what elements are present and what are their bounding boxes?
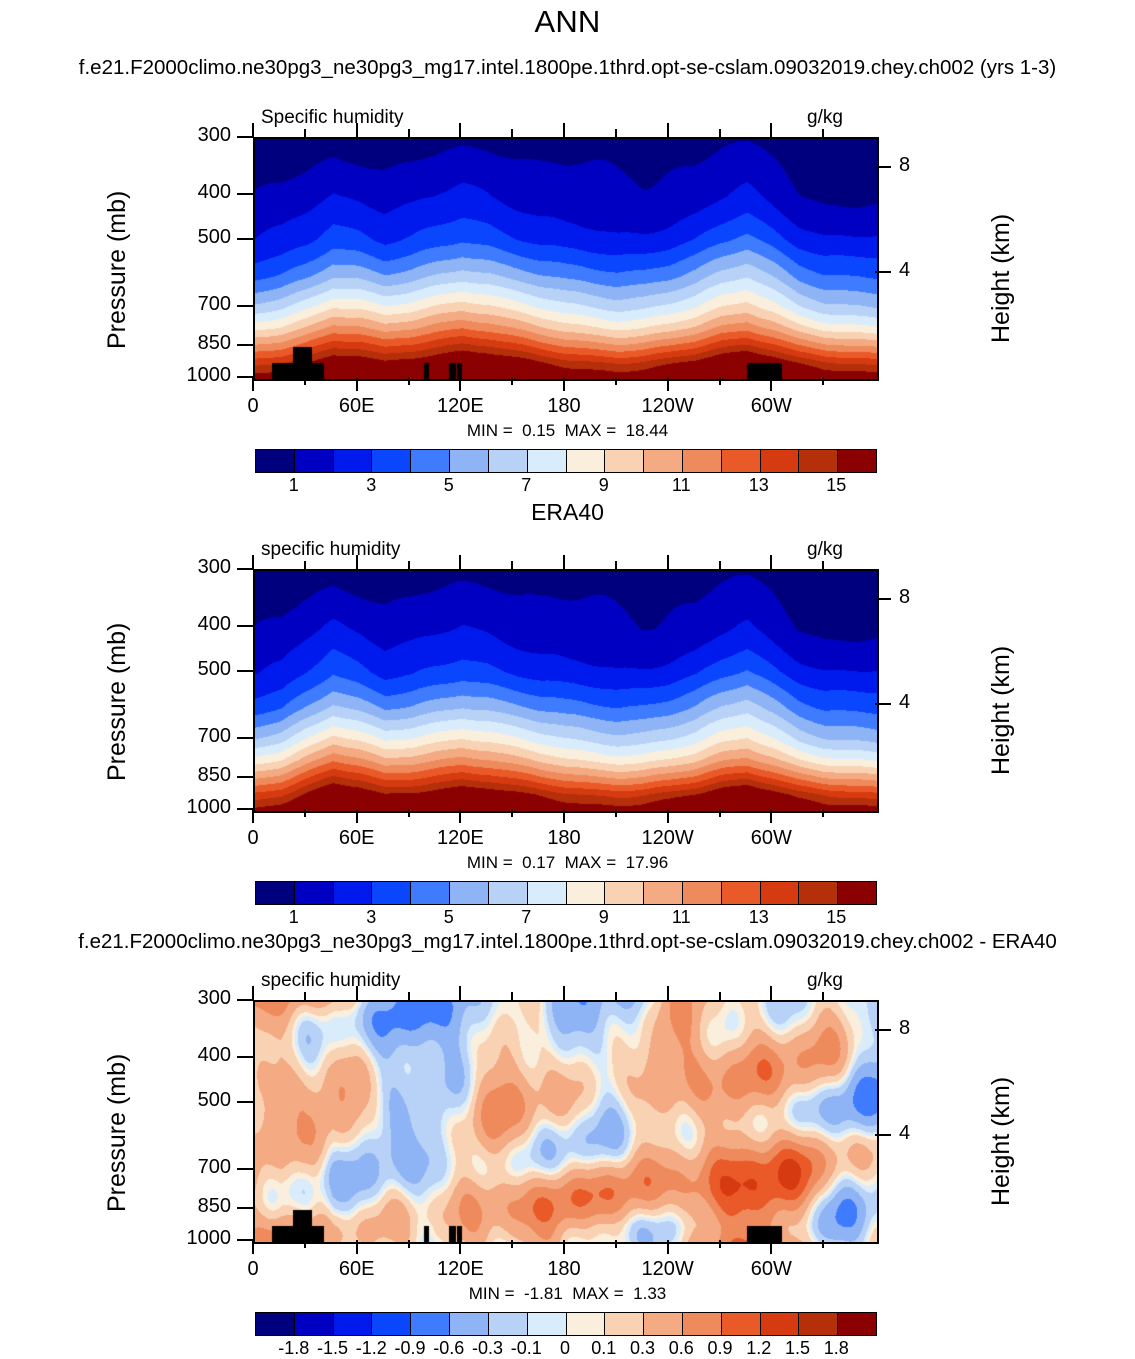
colorbar-cell	[256, 450, 295, 472]
colorbar-cell	[411, 1313, 450, 1335]
panel-obs-colorbar	[255, 881, 877, 905]
lon-minor-tick-mark	[511, 1240, 513, 1248]
lon-minor-tick-mark	[304, 377, 306, 385]
lon-tick-mark	[667, 809, 669, 823]
lon-tick-mark	[356, 809, 358, 823]
max-label: MAX =	[565, 853, 617, 872]
lon-minor-tick-mark	[304, 561, 306, 569]
pressure-tick-label: 400	[171, 181, 231, 204]
colorbar-cell	[295, 450, 334, 472]
lon-tick-mark	[770, 377, 772, 391]
colorbar-tick-label: 3	[366, 475, 376, 496]
pressure-tick-label: 400	[171, 613, 231, 636]
lon-tick-mark	[770, 809, 772, 823]
panel-model-minmax: MIN = 0.15 MAX = 18.44	[0, 421, 1135, 441]
lon-tick-mark	[356, 986, 358, 1000]
pressure-tick-label: 500	[171, 1089, 231, 1112]
lon-tick-label: 120W	[623, 1258, 713, 1281]
lon-minor-tick-mark	[408, 561, 410, 569]
min-label: MIN =	[467, 853, 513, 872]
colorbar-cell	[761, 882, 800, 904]
lon-tick-mark	[563, 809, 565, 823]
panel-model-units-label: g/kg	[807, 107, 843, 129]
lon-minor-tick-mark	[719, 992, 721, 1000]
panel-obs-units-label: g/kg	[807, 539, 843, 561]
lon-tick-label: 60E	[312, 1258, 402, 1281]
panel-obs-contour-canvas	[255, 571, 877, 811]
lon-tick-mark	[356, 123, 358, 137]
height-tick-mark	[875, 598, 891, 600]
colorbar-tick-label: 7	[521, 907, 531, 928]
min-value: 0.15	[522, 421, 555, 440]
colorbar-tick-label: 15	[826, 907, 846, 928]
pressure-tick-mark	[237, 193, 253, 195]
lon-tick-label: 60E	[312, 395, 402, 418]
pressure-tick-mark	[237, 305, 253, 307]
colorbar-tick-label: 9	[599, 907, 609, 928]
colorbar-tick-label: 3	[366, 907, 376, 928]
pressure-tick-label: 850	[171, 1195, 231, 1218]
colorbar-cell	[372, 450, 411, 472]
pressure-tick-mark	[237, 1207, 253, 1209]
panel-model-plot-area	[253, 137, 879, 381]
lon-minor-tick-mark	[822, 377, 824, 385]
max-value: 18.44	[626, 421, 669, 440]
lon-minor-tick-mark	[615, 129, 617, 137]
lon-tick-mark	[563, 123, 565, 137]
pressure-tick-mark	[237, 1101, 253, 1103]
panel-obs-variable-label: specific humidity	[261, 539, 400, 561]
lon-tick-mark	[563, 1240, 565, 1254]
panel-diff-colorbar	[255, 1312, 877, 1336]
lon-minor-tick-mark	[615, 1240, 617, 1248]
colorbar-cell	[722, 1313, 761, 1335]
colorbar-cell	[528, 1313, 567, 1335]
lon-tick-label: 0	[208, 827, 298, 850]
lon-tick-mark	[459, 986, 461, 1000]
lon-tick-mark	[356, 555, 358, 569]
lon-minor-tick-mark	[408, 992, 410, 1000]
lon-tick-label: 60W	[726, 395, 816, 418]
lon-tick-mark	[252, 986, 254, 1000]
colorbar-cell	[761, 1313, 800, 1335]
lon-minor-tick-mark	[615, 561, 617, 569]
lon-tick-label: 180	[519, 827, 609, 850]
colorbar-cell	[334, 1313, 373, 1335]
colorbar-tick-label: -0.1	[511, 1338, 542, 1359]
lon-tick-mark	[667, 377, 669, 391]
colorbar-tick-label: 0.6	[669, 1338, 694, 1359]
panel-model-colorbar	[255, 449, 877, 473]
pressure-tick-mark	[237, 1056, 253, 1058]
height-tick-label: 4	[899, 259, 910, 282]
panel-obs-minmax: MIN = 0.17 MAX = 17.96	[0, 853, 1135, 873]
lon-tick-mark	[252, 809, 254, 823]
pressure-tick-mark	[237, 999, 253, 1001]
colorbar-cell	[372, 882, 411, 904]
colorbar-cell	[683, 1313, 722, 1335]
colorbar-cell	[644, 450, 683, 472]
colorbar-cell	[450, 1313, 489, 1335]
case-name-model: f.e21.F2000climo.ne30pg3_ne30pg3_mg17.in…	[0, 56, 1135, 80]
colorbar-cell	[799, 882, 838, 904]
panel-model-variable-label: Specific humidity	[261, 107, 404, 129]
colorbar-cell	[799, 450, 838, 472]
lon-minor-tick-mark	[511, 129, 513, 137]
colorbar-cell	[605, 450, 644, 472]
max-value: 1.33	[633, 1284, 666, 1303]
lon-tick-mark	[563, 986, 565, 1000]
lon-minor-tick-mark	[822, 561, 824, 569]
colorbar-tick-label: 0.3	[630, 1338, 655, 1359]
colorbar-cell	[489, 1313, 528, 1335]
colorbar-tick-label: 1.2	[746, 1338, 771, 1359]
colorbar-tick-label: -1.2	[356, 1338, 387, 1359]
colorbar-cell	[567, 450, 606, 472]
pressure-tick-mark	[237, 1239, 253, 1241]
lon-tick-mark	[459, 555, 461, 569]
panel-obs-right-axis-title: Height (km)	[987, 646, 1016, 775]
lon-minor-tick-mark	[615, 377, 617, 385]
colorbar-tick-label: -1.8	[278, 1338, 309, 1359]
lon-minor-tick-mark	[304, 1240, 306, 1248]
pressure-tick-label: 300	[171, 987, 231, 1010]
colorbar-cell	[567, 1313, 606, 1335]
colorbar-cell	[722, 450, 761, 472]
colorbar-cell	[644, 1313, 683, 1335]
lon-tick-mark	[252, 555, 254, 569]
pressure-tick-label: 700	[171, 293, 231, 316]
pressure-tick-label: 300	[171, 556, 231, 579]
pressure-tick-label: 700	[171, 1156, 231, 1179]
lon-tick-mark	[770, 986, 772, 1000]
lon-tick-label: 120W	[623, 395, 713, 418]
lon-minor-tick-mark	[719, 129, 721, 137]
colorbar-cell	[722, 882, 761, 904]
lon-minor-tick-mark	[511, 377, 513, 385]
lon-minor-tick-mark	[822, 809, 824, 817]
colorbar-cell	[528, 882, 567, 904]
max-label: MAX =	[572, 1284, 624, 1303]
colorbar-cell	[450, 882, 489, 904]
height-tick-mark	[875, 1134, 891, 1136]
panel-obs-left-axis-title: Pressure (mb)	[103, 623, 132, 781]
pressure-tick-mark	[237, 737, 253, 739]
panel-model-contour-canvas	[255, 139, 877, 379]
min-label: MIN =	[467, 421, 513, 440]
colorbar-tick-label: 1	[289, 907, 299, 928]
height-tick-mark	[875, 271, 891, 273]
panel-obs-title: ERA40	[0, 499, 1135, 526]
lon-minor-tick-mark	[822, 129, 824, 137]
lon-tick-mark	[356, 377, 358, 391]
colorbar-tick-label: 11	[672, 475, 691, 496]
colorbar-tick-label: 5	[444, 907, 454, 928]
colorbar-tick-label: 13	[749, 475, 769, 496]
pressure-tick-label: 500	[171, 658, 231, 681]
colorbar-tick-label: -0.3	[472, 1338, 503, 1359]
colorbar-tick-label: -0.9	[394, 1338, 425, 1359]
colorbar-tick-label: 0.9	[707, 1338, 732, 1359]
lon-tick-mark	[770, 555, 772, 569]
lon-minor-tick-mark	[408, 129, 410, 137]
colorbar-cell	[489, 450, 528, 472]
colorbar-cell	[644, 882, 683, 904]
pressure-tick-mark	[237, 808, 253, 810]
lon-tick-mark	[459, 377, 461, 391]
colorbar-cell	[761, 450, 800, 472]
colorbar-cell	[295, 882, 334, 904]
lon-tick-label: 120E	[415, 1258, 505, 1281]
lon-tick-label: 120E	[415, 395, 505, 418]
colorbar-cell	[295, 1313, 334, 1335]
lon-tick-label: 120W	[623, 827, 713, 850]
case-name-diff: f.e21.F2000climo.ne30pg3_ne30pg3_mg17.in…	[0, 930, 1135, 954]
colorbar-tick-label: 7	[521, 475, 531, 496]
pressure-tick-label: 400	[171, 1044, 231, 1067]
panel-diff-plot-area	[253, 1000, 879, 1244]
colorbar-cell	[528, 450, 567, 472]
panel-diff-variable-label: specific humidity	[261, 970, 400, 992]
colorbar-cell	[334, 882, 373, 904]
colorbar-cell	[683, 882, 722, 904]
pressure-tick-mark	[237, 376, 253, 378]
colorbar-cell	[256, 1313, 295, 1335]
pressure-tick-mark	[237, 136, 253, 138]
panel-model-left-axis-title: Pressure (mb)	[103, 191, 132, 349]
colorbar-tick-label: 13	[749, 907, 769, 928]
pressure-tick-label: 1000	[171, 796, 231, 819]
lon-minor-tick-mark	[822, 992, 824, 1000]
figure-page: ANN f.e21.F2000climo.ne30pg3_ne30pg3_mg1…	[0, 0, 1135, 1346]
pressure-tick-mark	[237, 776, 253, 778]
colorbar-cell	[411, 882, 450, 904]
lon-tick-mark	[770, 123, 772, 137]
lon-tick-label: 60W	[726, 1258, 816, 1281]
lon-tick-mark	[770, 1240, 772, 1254]
lon-tick-mark	[667, 555, 669, 569]
panel-obs-plot-area	[253, 569, 879, 813]
lon-tick-mark	[356, 1240, 358, 1254]
panel-diff-minmax: MIN = -1.81 MAX = 1.33	[0, 1284, 1135, 1304]
lon-minor-tick-mark	[304, 992, 306, 1000]
colorbar-cell	[605, 1313, 644, 1335]
lon-minor-tick-mark	[408, 1240, 410, 1248]
lon-minor-tick-mark	[719, 377, 721, 385]
lon-tick-label: 120E	[415, 827, 505, 850]
colorbar-tick-label: 9	[599, 475, 609, 496]
lon-tick-mark	[252, 123, 254, 137]
height-tick-label: 4	[899, 1122, 910, 1145]
height-tick-mark	[875, 166, 891, 168]
lon-minor-tick-mark	[615, 992, 617, 1000]
height-tick-label: 8	[899, 586, 910, 609]
lon-minor-tick-mark	[511, 561, 513, 569]
lon-tick-label: 60E	[312, 827, 402, 850]
pressure-tick-mark	[237, 344, 253, 346]
colorbar-tick-label: 11	[672, 907, 691, 928]
lon-tick-label: 0	[208, 395, 298, 418]
lon-minor-tick-mark	[719, 561, 721, 569]
lon-tick-mark	[563, 555, 565, 569]
lon-minor-tick-mark	[304, 809, 306, 817]
colorbar-cell	[683, 450, 722, 472]
main-title: ANN	[0, 4, 1135, 40]
colorbar-cell	[372, 1313, 411, 1335]
colorbar-tick-label: 1	[289, 475, 299, 496]
lon-tick-mark	[563, 377, 565, 391]
panel-diff-units-label: g/kg	[807, 970, 843, 992]
pressure-tick-label: 700	[171, 725, 231, 748]
min-label: MIN =	[469, 1284, 515, 1303]
min-value: -1.81	[524, 1284, 563, 1303]
max-value: 17.96	[626, 853, 669, 872]
pressure-tick-mark	[237, 568, 253, 570]
lon-tick-mark	[667, 1240, 669, 1254]
lon-tick-mark	[667, 986, 669, 1000]
pressure-tick-mark	[237, 1168, 253, 1170]
colorbar-cell	[838, 1313, 876, 1335]
min-value: 0.17	[522, 853, 555, 872]
lon-minor-tick-mark	[719, 1240, 721, 1248]
lon-tick-mark	[667, 123, 669, 137]
lon-tick-label: 180	[519, 1258, 609, 1281]
lon-minor-tick-mark	[304, 129, 306, 137]
height-tick-label: 8	[899, 154, 910, 177]
panel-model-right-axis-title: Height (km)	[987, 214, 1016, 343]
colorbar-tick-label: 1.5	[785, 1338, 810, 1359]
pressure-tick-label: 300	[171, 124, 231, 147]
colorbar-cell	[450, 450, 489, 472]
colorbar-tick-label: 0.1	[591, 1338, 616, 1359]
lon-minor-tick-mark	[615, 809, 617, 817]
colorbar-cell	[838, 882, 876, 904]
colorbar-cell	[799, 1313, 838, 1335]
colorbar-tick-label: 15	[826, 475, 846, 496]
lon-minor-tick-mark	[408, 377, 410, 385]
lon-tick-mark	[252, 1240, 254, 1254]
lon-tick-mark	[252, 377, 254, 391]
lon-minor-tick-mark	[822, 1240, 824, 1248]
pressure-tick-mark	[237, 238, 253, 240]
colorbar-cell	[605, 882, 644, 904]
lon-tick-mark	[459, 123, 461, 137]
colorbar-tick-label: 0	[560, 1338, 570, 1359]
height-tick-mark	[875, 703, 891, 705]
pressure-tick-mark	[237, 670, 253, 672]
pressure-tick-label: 500	[171, 226, 231, 249]
lon-tick-label: 0	[208, 1258, 298, 1281]
height-tick-mark	[875, 1029, 891, 1031]
lon-minor-tick-mark	[511, 992, 513, 1000]
colorbar-cell	[567, 882, 606, 904]
pressure-tick-label: 1000	[171, 1227, 231, 1250]
colorbar-tick-label: 1.8	[824, 1338, 849, 1359]
colorbar-tick-label: -1.5	[317, 1338, 348, 1359]
lon-minor-tick-mark	[719, 809, 721, 817]
height-tick-label: 4	[899, 691, 910, 714]
colorbar-tick-label: -0.6	[433, 1338, 464, 1359]
colorbar-tick-label: 5	[444, 475, 454, 496]
panel-diff-contour-canvas	[255, 1002, 877, 1242]
panel-diff: specific humidity g/kg Pressure (mb) Hei…	[0, 0, 1135, 1]
panel-diff-right-axis-title: Height (km)	[987, 1077, 1016, 1206]
pressure-tick-label: 1000	[171, 364, 231, 387]
pressure-tick-label: 850	[171, 332, 231, 355]
pressure-tick-label: 850	[171, 764, 231, 787]
colorbar-cell	[411, 450, 450, 472]
max-label: MAX =	[565, 421, 617, 440]
colorbar-cell	[838, 450, 876, 472]
lon-tick-label: 180	[519, 395, 609, 418]
lon-tick-label: 60W	[726, 827, 816, 850]
lon-minor-tick-mark	[408, 809, 410, 817]
pressure-tick-mark	[237, 625, 253, 627]
lon-tick-mark	[459, 809, 461, 823]
colorbar-cell	[489, 882, 528, 904]
colorbar-cell	[256, 882, 295, 904]
lon-minor-tick-mark	[511, 809, 513, 817]
colorbar-cell	[334, 450, 373, 472]
height-tick-label: 8	[899, 1017, 910, 1040]
panel-diff-left-axis-title: Pressure (mb)	[103, 1054, 132, 1212]
lon-tick-mark	[459, 1240, 461, 1254]
